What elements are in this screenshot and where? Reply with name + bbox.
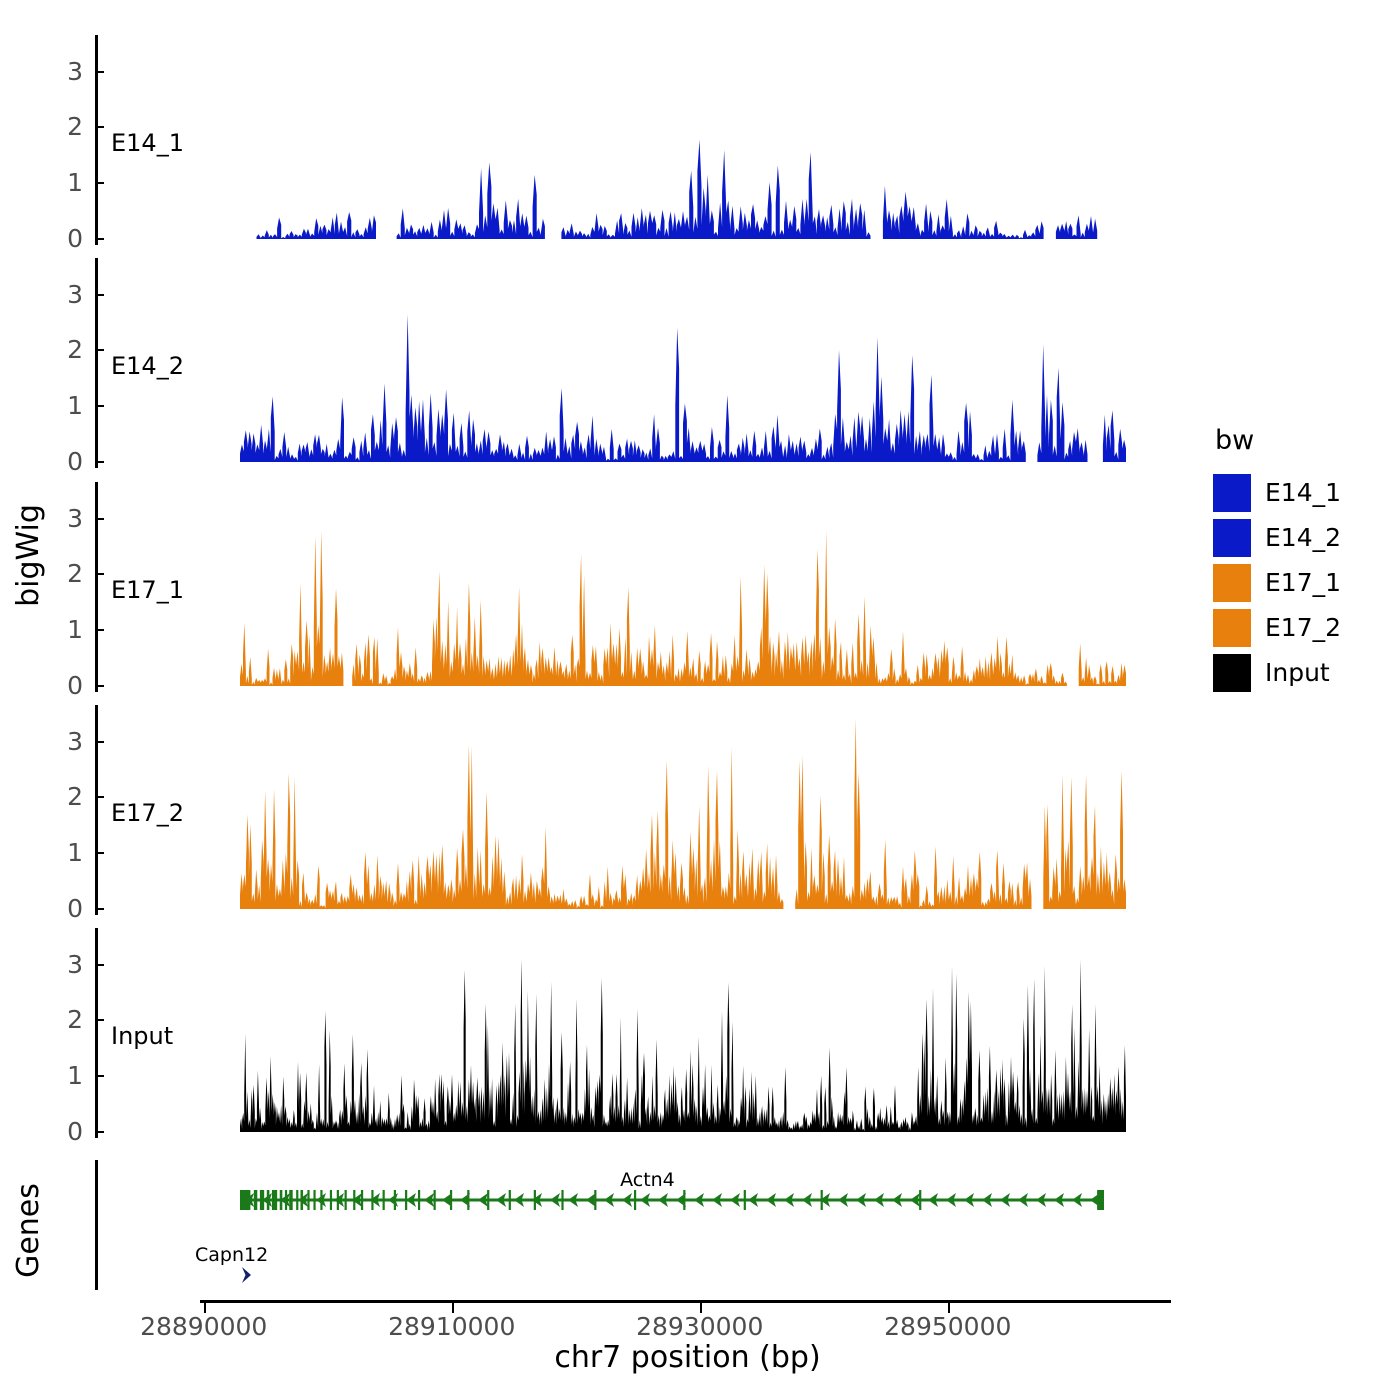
legend-label: E17_1 xyxy=(1265,568,1341,597)
legend-item-input[interactable]: Input xyxy=(1213,650,1393,695)
gene-actn4 xyxy=(240,1190,1104,1210)
signal-track-input xyxy=(0,928,1200,1138)
legend-swatch-e14_1 xyxy=(1213,474,1251,512)
signal-track-e17_2 xyxy=(0,705,1200,915)
x-tick-label: 28950000 xyxy=(838,1312,1058,1341)
gene-capn12 xyxy=(242,1267,251,1283)
panel-e14_1: 0123E14_1 xyxy=(0,35,1200,245)
legend-item-e17_1[interactable]: E17_1 xyxy=(1213,560,1393,605)
legend-swatch-input xyxy=(1213,654,1251,692)
panel-e17_1: 0123E17_1 xyxy=(0,482,1200,692)
legend-item-e17_2[interactable]: E17_2 xyxy=(1213,605,1393,650)
legend-items: E14_1E14_2E17_1E17_2Input xyxy=(1213,470,1393,695)
gene-label-capn12: Capn12 xyxy=(195,1244,268,1266)
x-axis-label: chr7 position (bp) xyxy=(200,1340,1175,1375)
signal-track-e17_1 xyxy=(0,482,1200,692)
figure-root: bigWig Genes chr7 position (bp) 0123E14_… xyxy=(0,0,1400,1400)
panel-input: 0123Input xyxy=(0,928,1200,1138)
legend-label: E17_2 xyxy=(1265,613,1341,642)
x-tick-label: 28930000 xyxy=(590,1312,810,1341)
gene-track: Actn4Capn12 xyxy=(0,1160,1200,1300)
legend-swatch-e14_2 xyxy=(1213,519,1251,557)
legend-swatch-e17_1 xyxy=(1213,564,1251,602)
legend-item-e14_1[interactable]: E14_1 xyxy=(1213,470,1393,515)
legend-title: bw xyxy=(1215,425,1393,456)
x-axis-line xyxy=(200,1300,1171,1303)
legend: bw E14_1E14_2E17_1E17_2Input xyxy=(1213,425,1393,695)
panel-e17_2: 0123E17_2 xyxy=(0,705,1200,915)
legend-swatch-e17_2 xyxy=(1213,609,1251,647)
legend-label: E14_1 xyxy=(1265,478,1341,507)
legend-label: E14_2 xyxy=(1265,523,1341,552)
x-tick-label: 28890000 xyxy=(94,1312,314,1341)
signal-track-e14_2 xyxy=(0,258,1200,468)
legend-label: Input xyxy=(1265,658,1330,687)
signal-track-e14_1 xyxy=(0,35,1200,245)
gene-label-actn4: Actn4 xyxy=(620,1169,675,1191)
panel-e14_2: 0123E14_2 xyxy=(0,258,1200,468)
x-tick-label: 28910000 xyxy=(342,1312,562,1341)
legend-item-e14_2[interactable]: E14_2 xyxy=(1213,515,1393,560)
